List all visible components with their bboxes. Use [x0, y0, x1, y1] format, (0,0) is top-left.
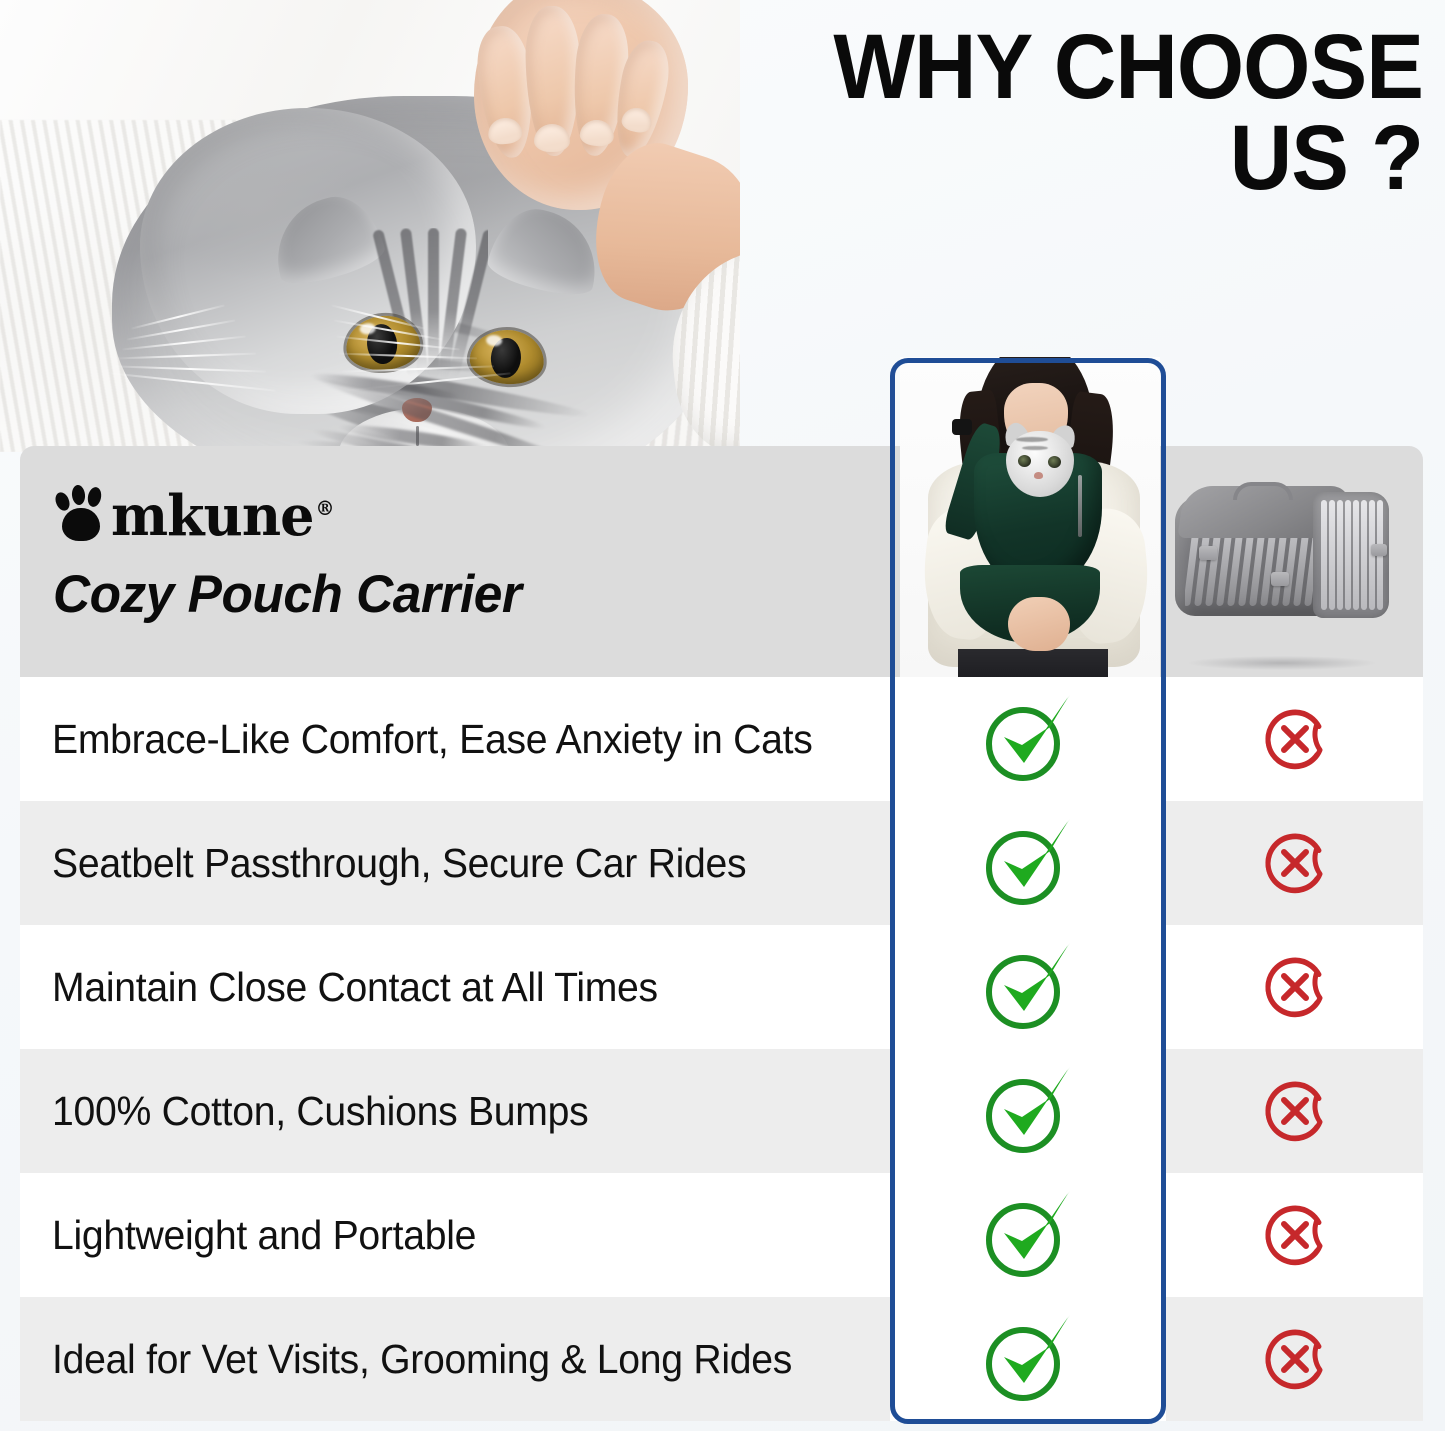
page-title: WHY CHOOSE US ?: [709, 22, 1423, 204]
feature-label-2: Seatbelt Passthrough, Secure Car Rides: [52, 801, 746, 925]
table-row-6: Ideal for Vet Visits, Grooming & Long Ri…: [20, 1297, 1423, 1421]
cell-our-product: [890, 801, 1166, 925]
feature-label-5: Lightweight and Portable: [52, 1173, 476, 1297]
cell-competitor: [1166, 1049, 1423, 1173]
red-cross-circle-icon: [1259, 703, 1331, 775]
feature-label-1: Embrace-Like Comfort, Ease Anxiety in Ca…: [52, 677, 813, 801]
crate-handle: [1233, 482, 1293, 500]
cell-competitor: [1166, 677, 1423, 801]
comparison-table: mkune® Cozy Pouch Carrier: [20, 446, 1423, 1424]
feature-label-6: Ideal for Vet Visits, Grooming & Long Ri…: [52, 1297, 792, 1421]
feature-label-4: 100% Cotton, Cushions Bumps: [52, 1049, 588, 1173]
cell-competitor: [1166, 1173, 1423, 1297]
nail-middle: [534, 124, 570, 152]
table-row-2: Seatbelt Passthrough, Secure Car Rides: [20, 801, 1423, 925]
competitor-crate-photo: [1157, 446, 1415, 677]
green-check-circle-icon: [980, 817, 1076, 909]
hero-cat-photo: [0, 0, 740, 452]
cell-competitor: [1166, 1297, 1423, 1421]
cell-our-product: [890, 1297, 1166, 1421]
cell-competitor: [1166, 925, 1423, 1049]
product-name: Cozy Pouch Carrier: [53, 564, 732, 625]
cell-our-product: [890, 1049, 1166, 1173]
green-check-circle-icon: [980, 941, 1076, 1033]
cell-competitor: [1166, 801, 1423, 925]
brand-name-text: mkune: [111, 482, 313, 549]
red-cross-circle-icon: [1259, 1323, 1331, 1395]
petting-hand: [420, 0, 710, 300]
crate-shadow: [1189, 656, 1375, 670]
feature-label-3: Maintain Close Contact at All Times: [52, 925, 658, 1049]
model-hand: [1008, 597, 1070, 651]
red-cross-circle-icon: [1259, 951, 1331, 1023]
cat-chest-stripes: [300, 372, 630, 452]
brand-name-line: mkune®: [53, 484, 753, 542]
cell-our-product: [890, 925, 1166, 1049]
green-check-circle-icon: [980, 1313, 1076, 1405]
crate-latch-3: [1371, 544, 1387, 556]
our-product-photo: [900, 357, 1160, 677]
cell-our-product: [890, 1173, 1166, 1297]
cell-our-product: [890, 677, 1166, 801]
paw-print-icon: [53, 484, 109, 542]
carried-cat-stripe-2: [1022, 446, 1048, 450]
brand-block: mkune® Cozy Pouch Carrier: [53, 484, 753, 625]
model-pants: [958, 649, 1108, 677]
crate-latch-1: [1199, 546, 1217, 560]
table-row-1: Embrace-Like Comfort, Ease Anxiety in Ca…: [20, 677, 1423, 801]
table-row-4: 100% Cotton, Cushions Bumps: [20, 1049, 1423, 1173]
table-row-3: Maintain Close Contact at All Times: [20, 925, 1423, 1049]
green-check-circle-icon: [980, 1189, 1076, 1281]
red-cross-circle-icon: [1259, 827, 1331, 899]
registered-trademark-icon: ®: [315, 497, 333, 520]
carried-cat-stripe-1: [1016, 437, 1048, 442]
green-check-circle-icon: [980, 1065, 1076, 1157]
table-row-5: Lightweight and Portable: [20, 1173, 1423, 1297]
carried-cat-eye-left: [1018, 455, 1031, 467]
carrier-zipper: [1078, 475, 1082, 537]
carried-cat-nose: [1034, 472, 1043, 479]
crate-latch-2: [1271, 572, 1289, 586]
brand-name: mkune®: [111, 487, 333, 543]
infographic-page: WHY CHOOSE US ? mkune® Cozy Pouch Carrie…: [0, 0, 1445, 1431]
pet-crate: [1175, 480, 1391, 628]
red-cross-circle-icon: [1259, 1075, 1331, 1147]
green-check-circle-icon: [980, 693, 1076, 785]
carrier-strap-clip: [952, 419, 972, 435]
carried-cat-eye-right: [1048, 456, 1061, 468]
red-cross-circle-icon: [1259, 1199, 1331, 1271]
